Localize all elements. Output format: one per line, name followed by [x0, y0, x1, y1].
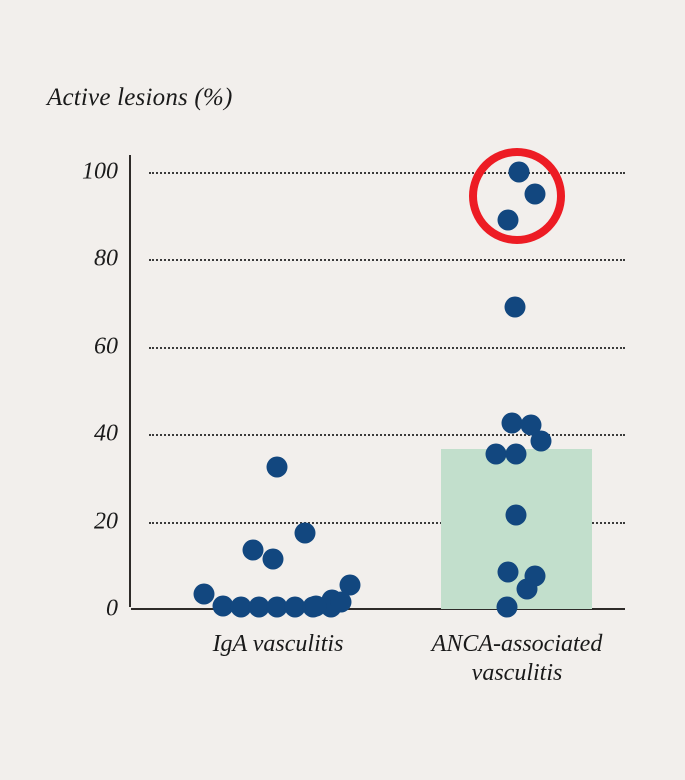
data-point — [505, 297, 526, 318]
y-tick-label: 0 — [106, 596, 118, 623]
x-category-label: IgA vasculitis — [148, 630, 408, 659]
highlight-circle-annotation — [469, 148, 565, 244]
data-point — [263, 548, 284, 569]
data-point — [267, 456, 288, 477]
y-tick-label: 40 — [94, 421, 118, 448]
y-tick-label: 80 — [94, 246, 118, 273]
data-point — [506, 505, 527, 526]
data-point — [531, 430, 552, 451]
data-point — [486, 443, 507, 464]
data-point — [295, 522, 316, 543]
data-point — [243, 540, 264, 561]
data-point — [194, 583, 215, 604]
data-point — [498, 561, 519, 582]
x-category-label: ANCA-associatedvasculitis — [387, 630, 647, 689]
gridline — [149, 259, 625, 261]
chart-container: Active lesions (%) 020406080100 IgA vasc… — [0, 0, 685, 780]
y-tick-label: 100 — [82, 159, 118, 186]
data-point — [506, 443, 527, 464]
gridline — [149, 347, 625, 349]
x-category-label-line: IgA vasculitis — [148, 630, 408, 659]
data-point — [497, 596, 518, 617]
gridline — [149, 434, 625, 436]
data-point — [306, 595, 327, 616]
plot-area — [131, 172, 625, 609]
data-point — [517, 579, 538, 600]
data-point — [502, 413, 523, 434]
data-point — [331, 592, 352, 613]
chart-title: Active lesions (%) — [47, 84, 232, 112]
x-category-label-line: vasculitis — [387, 659, 647, 688]
y-tick-label: 60 — [94, 333, 118, 360]
x-category-label-line: ANCA-associated — [387, 630, 647, 659]
y-tick-label: 20 — [94, 508, 118, 535]
